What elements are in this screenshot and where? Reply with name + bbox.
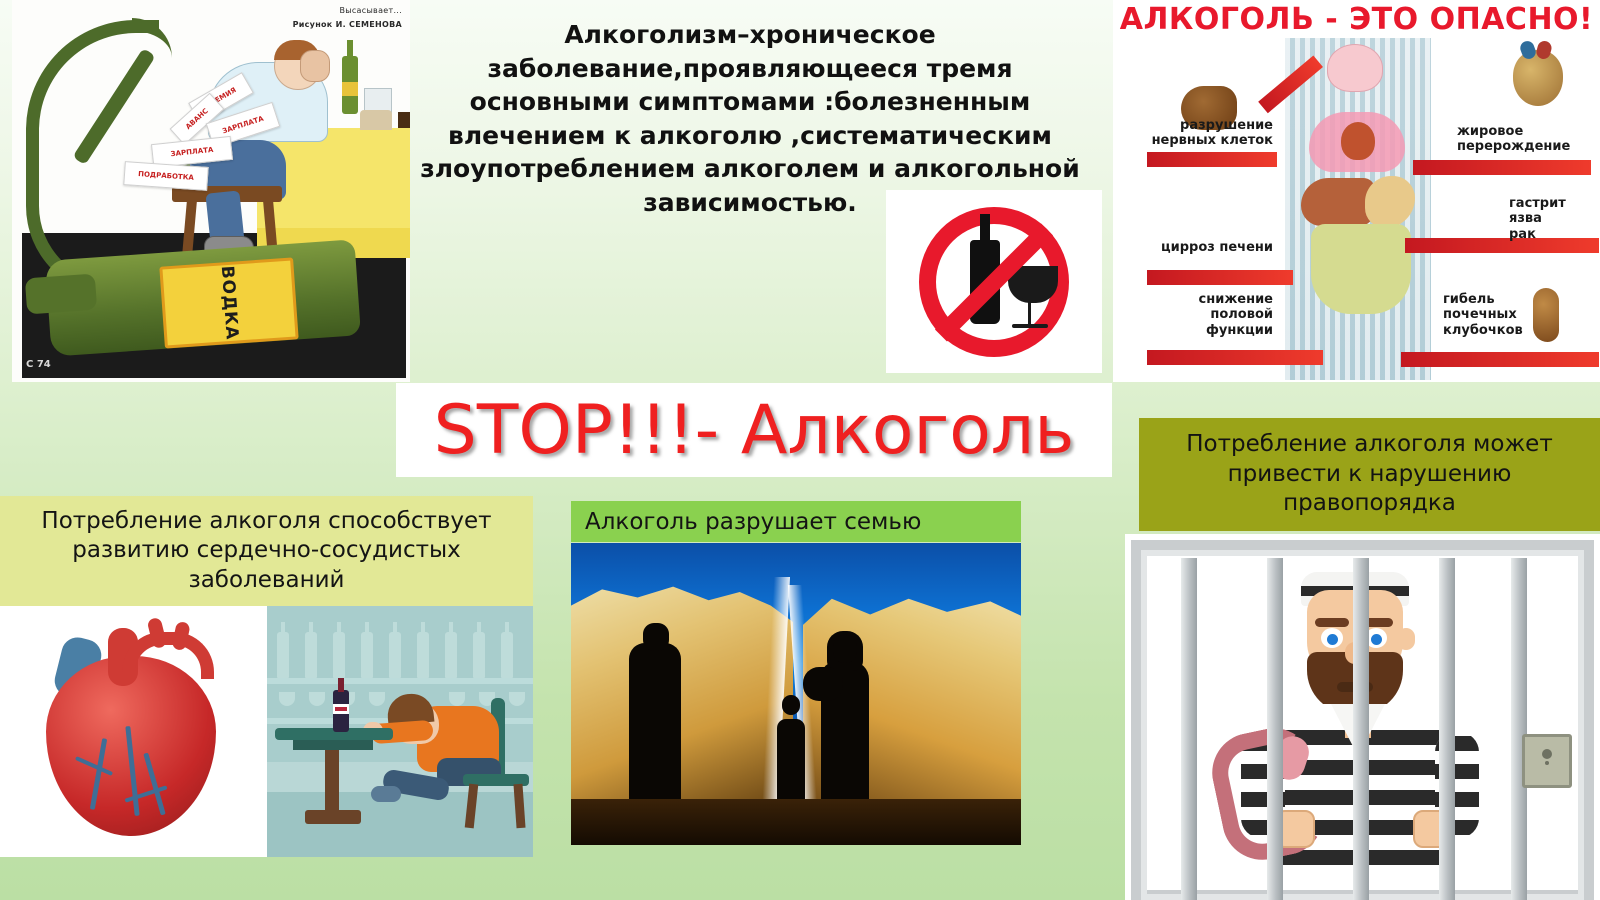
law-caption-line-1: Потребление алкоголя может bbox=[1186, 431, 1552, 457]
arrow-nerve-cells bbox=[1147, 152, 1277, 167]
arrow-liver-cirrhosis bbox=[1147, 270, 1293, 285]
table-foot bbox=[305, 810, 361, 824]
caricature-credit-block: Высасывает... Рисунок И. СЕМЕНОВА bbox=[293, 4, 402, 31]
broken-family-image bbox=[571, 543, 1021, 845]
cardio-caption-box: Потребление алкоголя способствует развит… bbox=[0, 496, 533, 606]
vodka-label-text: ВОДКА bbox=[216, 265, 241, 341]
child-head-silhouette bbox=[782, 695, 800, 715]
organ-damage-poster: АЛКОГОЛЬ - ЭТО ОПАСНО! разрушение нервны… bbox=[1113, 0, 1600, 382]
vodka-bottle-label: ВОДКА bbox=[159, 257, 298, 348]
bar-floor bbox=[267, 792, 533, 857]
table-apron bbox=[293, 740, 373, 750]
law-caption-line-3: правопорядка bbox=[1283, 490, 1456, 516]
shelf-bottle bbox=[417, 632, 429, 678]
caricature-artist-credit: Рисунок И. СЕМЕНОВА bbox=[293, 20, 402, 29]
caricature-image: Высасывает... Рисунок И. СЕМЕНОВА bbox=[12, 0, 410, 382]
caricature-caption: Высасывает... bbox=[293, 4, 402, 18]
prisoner-pupil-left bbox=[1327, 634, 1338, 645]
cell-lock-icon bbox=[1522, 734, 1572, 788]
label-kidney-glomeruli: гибель почечных клубочков bbox=[1443, 292, 1543, 338]
cell-bar bbox=[1267, 558, 1283, 900]
stop-banner: STOP!!!- Алкоголь bbox=[396, 383, 1112, 477]
label-nerve-cells: разрушение нервных клеток bbox=[1141, 118, 1273, 149]
law-caption-text: Потребление алкоголя может привести к на… bbox=[1172, 430, 1566, 520]
vodka-bottle-neck bbox=[25, 274, 97, 315]
cardio-caption-text: Потребление алкоголя способствует развит… bbox=[23, 507, 509, 595]
law-caption-line-2: привести к нарушению bbox=[1228, 461, 1512, 487]
intro-paragraph: Алкоголизм–хроническое заболевание,прояв… bbox=[420, 18, 1080, 219]
fatty-heart-icon bbox=[1513, 50, 1563, 106]
artist-signature: С 74 bbox=[26, 359, 51, 370]
table-shot-glass bbox=[398, 112, 410, 128]
human-heart-image bbox=[0, 606, 267, 857]
cardio-caption-line-3: заболеваний bbox=[188, 567, 344, 593]
table-leg bbox=[325, 750, 339, 816]
arrow-kidney bbox=[1401, 352, 1599, 367]
father-head-silhouette bbox=[643, 623, 669, 651]
label-fatty-degeneration: жировое перерождение bbox=[1457, 124, 1597, 155]
wine-glass-base bbox=[1012, 324, 1048, 328]
heart-organ-icon bbox=[1341, 122, 1375, 160]
family-caption-box: Алкоголь разрушает семью bbox=[571, 501, 1021, 542]
arrow-sexual-function bbox=[1147, 350, 1323, 365]
mother-head-silhouette bbox=[833, 635, 857, 663]
baby-silhouette bbox=[803, 667, 843, 701]
chair-leg-right bbox=[513, 784, 525, 829]
prisoner-ear bbox=[1397, 628, 1415, 650]
cell-bar bbox=[1439, 558, 1455, 900]
arrow-fatty-degeneration bbox=[1413, 160, 1591, 175]
no-alcohol-sign bbox=[886, 190, 1102, 373]
table-bag bbox=[360, 110, 392, 130]
wine-glass-stem bbox=[1028, 300, 1031, 326]
stop-banner-text: STOP!!!- Алкоголь bbox=[434, 391, 1075, 470]
bar-shelf-upper bbox=[267, 678, 533, 684]
organ-poster-title: АЛКОГОЛЬ - ЭТО ОПАСНО! bbox=[1113, 2, 1600, 37]
caricature-canvas: Высасывает... Рисунок И. СЕМЕНОВА bbox=[12, 0, 410, 382]
prisoner-image bbox=[1125, 534, 1600, 900]
cardio-caption-line-1: Потребление алкоголя способствует bbox=[41, 508, 491, 534]
drunk-man-shoe bbox=[371, 786, 401, 802]
shelf-bottle bbox=[277, 632, 289, 678]
ground-shadow bbox=[571, 799, 1021, 845]
shelf-bottle bbox=[305, 632, 317, 678]
label-liver-cirrhosis: цирроз печени bbox=[1141, 240, 1273, 255]
wine-bottle-icon bbox=[333, 690, 349, 732]
shelf-bottle bbox=[473, 632, 485, 678]
shelf-bottle bbox=[501, 632, 513, 678]
family-caption-text: Алкоголь разрушает семью bbox=[571, 509, 921, 535]
cardio-caption-line-2: развитию сердечно-сосудистых bbox=[72, 537, 461, 563]
label-sexual-function: снижение половой функции bbox=[1141, 292, 1273, 338]
shelf-bottle bbox=[361, 632, 373, 678]
cell-bar bbox=[1181, 558, 1197, 900]
shelf-bottle bbox=[389, 632, 401, 678]
law-caption-box: Потребление алкоголя может привести к на… bbox=[1139, 418, 1600, 531]
label-gastritis-ulcer-cancer: гастрит язва рак bbox=[1509, 196, 1600, 242]
shelf-bottle bbox=[445, 632, 457, 678]
cell-bar bbox=[1353, 558, 1369, 900]
man-hand bbox=[300, 50, 330, 82]
liver-organ-icon bbox=[1301, 178, 1375, 226]
shelf-bottle bbox=[333, 632, 345, 678]
brain-icon bbox=[1327, 44, 1383, 92]
table-bottle bbox=[342, 56, 358, 114]
poster-canvas: Высасывает... Рисунок И. СЕМЕНОВА bbox=[0, 0, 1600, 900]
cell-bar bbox=[1511, 558, 1527, 900]
intestines-icon bbox=[1311, 224, 1411, 314]
prisoner-brow-left bbox=[1315, 618, 1349, 627]
prisoner-pupil-right bbox=[1371, 634, 1382, 645]
drunk-man-at-bar-image bbox=[267, 606, 533, 857]
